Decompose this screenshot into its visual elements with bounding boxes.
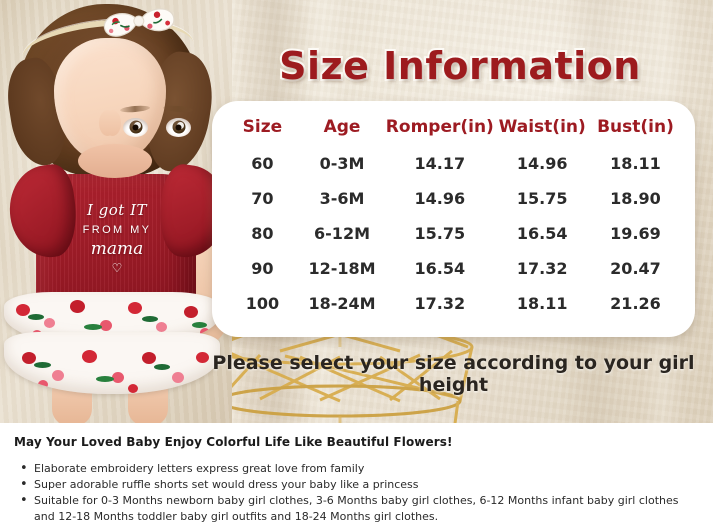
eye-left: [123, 118, 148, 137]
cell-age: 6-12M: [299, 216, 385, 251]
cell-age: 18-24M: [299, 286, 385, 321]
column-header-waist: Waist(in): [494, 115, 590, 146]
cell-bust: 19.69: [590, 216, 681, 251]
shirt-slogan-line-3: mama: [52, 240, 182, 259]
skirt-layer-bottom: [4, 332, 220, 394]
cell-romper: 17.32: [385, 286, 494, 321]
product-description: May Your Loved Baby Enjoy Colorful Life …: [0, 423, 713, 520]
cell-age: 0-3M: [299, 146, 385, 181]
cell-waist: 15.75: [494, 181, 590, 216]
ear-right: [104, 110, 121, 136]
neckline: [78, 144, 152, 178]
column-header-size: Size: [226, 115, 299, 146]
cell-size: 90: [226, 251, 299, 286]
size-selection-note: Please select your size according to you…: [212, 352, 695, 396]
table-row: 60 0-3M 14.17 14.96 18.11: [226, 146, 681, 181]
cell-romper: 14.96: [385, 181, 494, 216]
floral-print: [4, 332, 220, 394]
description-heading: May Your Loved Baby Enjoy Colorful Life …: [14, 435, 699, 449]
shirt-slogan: I got IT FROM MY mama ♡: [52, 202, 182, 276]
cell-bust: 20.47: [590, 251, 681, 286]
eye-right: [166, 118, 191, 137]
column-header-bust: Bust(in): [590, 115, 681, 146]
column-header-romper: Romper(in): [385, 115, 494, 146]
cell-waist: 18.11: [494, 286, 590, 321]
cell-size: 80: [226, 216, 299, 251]
cell-size: 100: [226, 286, 299, 321]
cell-size: 70: [226, 181, 299, 216]
cell-waist: 14.96: [494, 146, 590, 181]
table-row: 80 6-12M 15.75 16.54 19.69: [226, 216, 681, 251]
table-row: 90 12-18M 16.54 17.32 20.47: [226, 251, 681, 286]
page-title: Size Information: [232, 44, 688, 88]
cell-bust: 21.26: [590, 286, 681, 321]
product-photo: I got IT FROM MY mama ♡: [0, 0, 232, 423]
cell-waist: 16.54: [494, 216, 590, 251]
size-chart-table: Size Age Romper(in) Waist(in) Bust(in) 6…: [226, 115, 681, 321]
list-item: Super adorable ruffle shorts set would d…: [14, 477, 699, 493]
heart-icon: ♡: [52, 262, 182, 275]
table-header-row: Size Age Romper(in) Waist(in) Bust(in): [226, 115, 681, 146]
cell-romper: 14.17: [385, 146, 494, 181]
cell-age: 12-18M: [299, 251, 385, 286]
cell-size: 60: [226, 146, 299, 181]
cell-bust: 18.90: [590, 181, 681, 216]
floral-ruffle-skirt: [0, 292, 232, 396]
size-information-banner: I got IT FROM MY mama ♡: [0, 0, 713, 423]
column-header-age: Age: [299, 115, 385, 146]
cell-romper: 15.75: [385, 216, 494, 251]
size-chart-card: Size Age Romper(in) Waist(in) Bust(in) 6…: [212, 101, 695, 337]
cell-waist: 17.32: [494, 251, 590, 286]
shirt-slogan-line-1: I got IT: [52, 202, 182, 219]
cell-age: 3-6M: [299, 181, 385, 216]
list-item: Elaborate embroidery letters express gre…: [14, 461, 699, 477]
shirt-slogan-line-2: FROM MY: [52, 224, 182, 236]
table-row: 100 18-24M 17.32 18.11 21.26: [226, 286, 681, 321]
eyebrow-left: [120, 105, 150, 114]
cell-romper: 16.54: [385, 251, 494, 286]
table-row: 70 3-6M 14.96 15.75 18.90: [226, 181, 681, 216]
cell-bust: 18.11: [590, 146, 681, 181]
feature-list: Elaborate embroidery letters express gre…: [14, 461, 699, 525]
